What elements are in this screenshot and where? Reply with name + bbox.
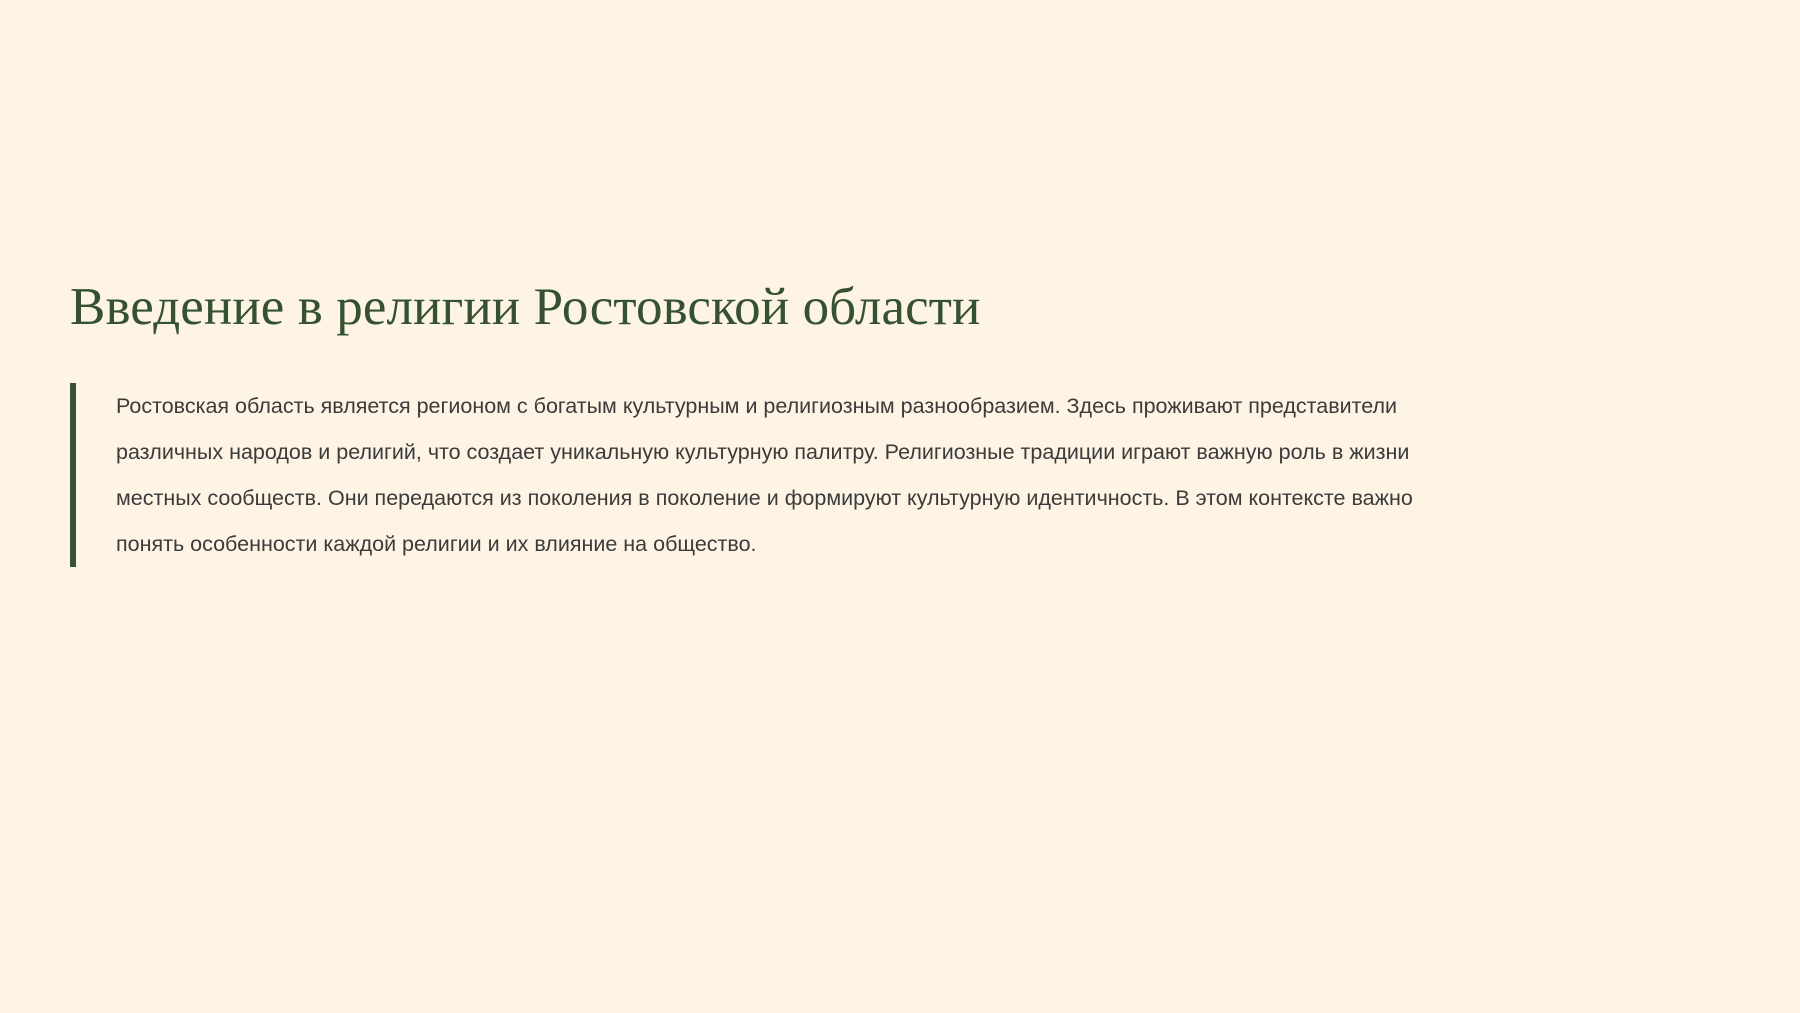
accented-text-block: Ростовская область является регионом с б… bbox=[70, 383, 1452, 567]
page-title: Введение в религии Ростовской области bbox=[70, 276, 1470, 339]
slide-content: Введение в религии Ростовской области Ро… bbox=[70, 276, 1470, 567]
body-paragraph: Ростовская область является регионом с б… bbox=[116, 383, 1452, 567]
slide-canvas: Введение в религии Ростовской области Ро… bbox=[0, 0, 1800, 1013]
